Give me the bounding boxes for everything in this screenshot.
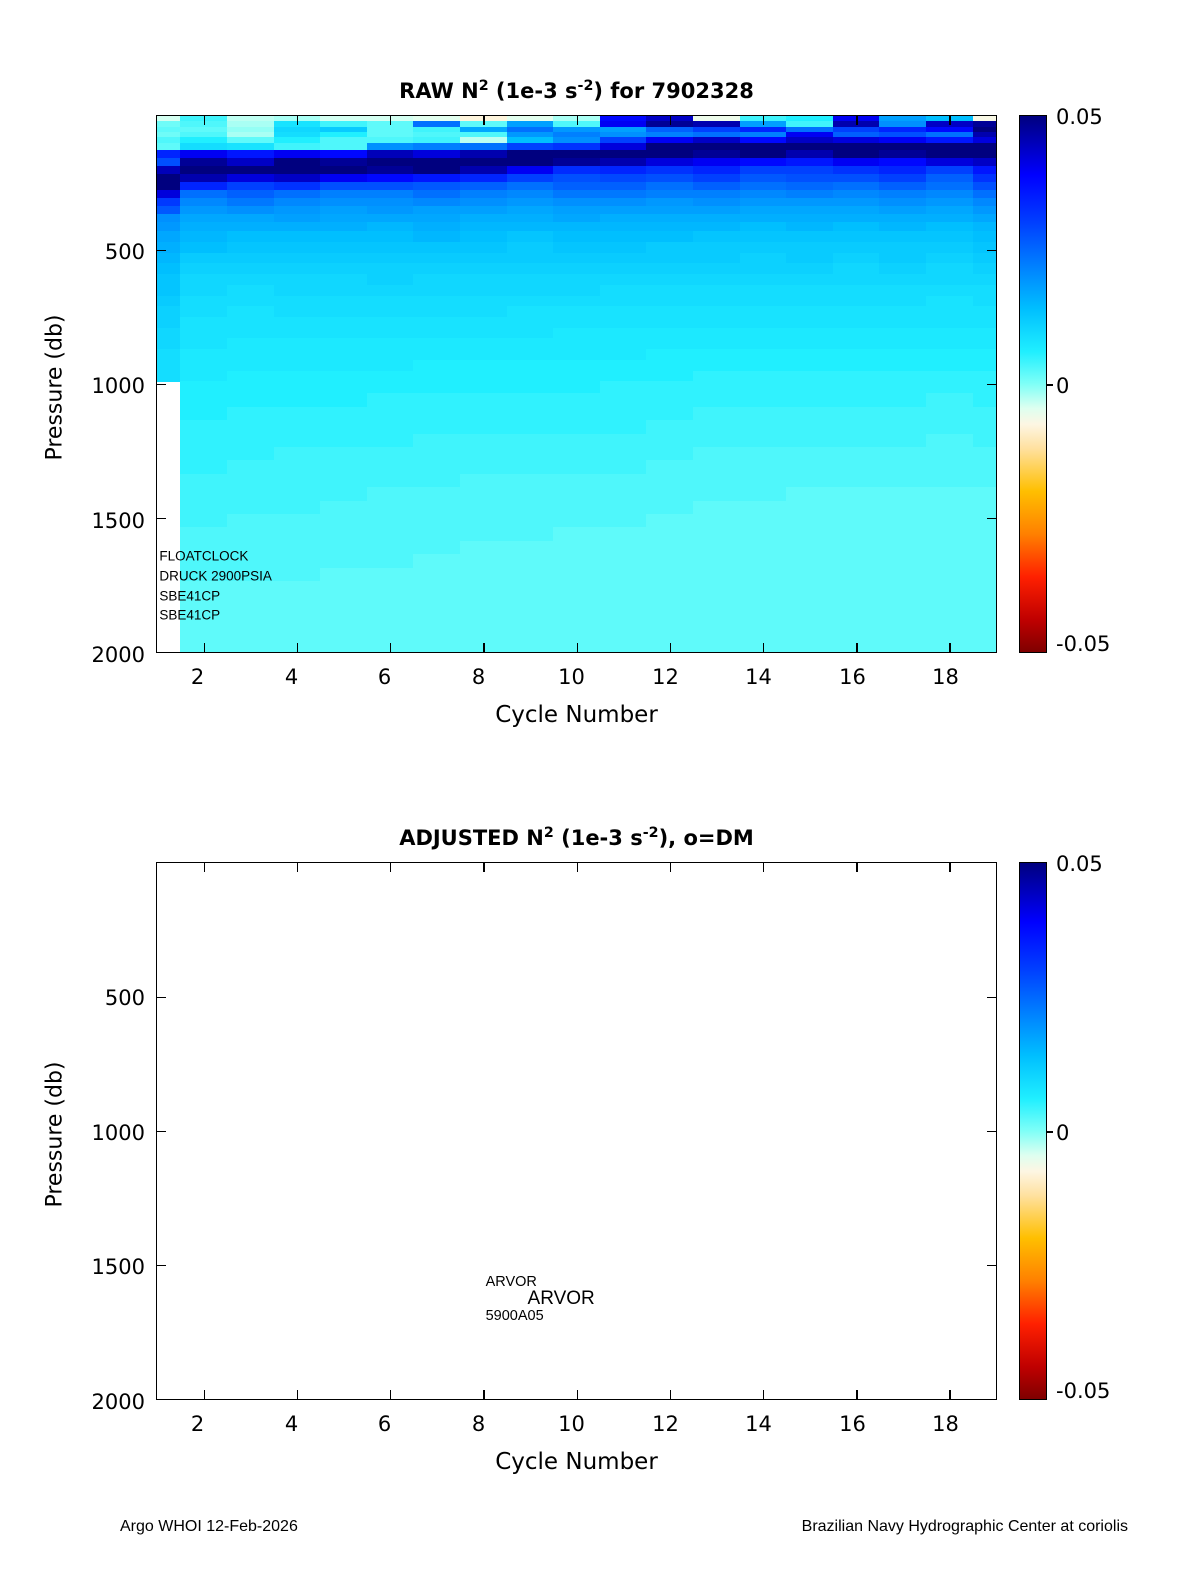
heatmap-cell (413, 420, 460, 434)
heatmap-cell (926, 360, 973, 371)
xtick-6 (390, 863, 391, 872)
heatmap-cell (553, 527, 600, 541)
heatmap-cell (180, 393, 227, 407)
heatmap-cell (693, 541, 740, 555)
heatmap-cell (879, 231, 926, 242)
heatmap-cell (926, 474, 973, 488)
panel-adjusted-title: ADJUSTED N2 (1e-3 s-2), o=DM (156, 825, 997, 850)
heatmap-cell (274, 242, 321, 253)
heatmap-cell (227, 381, 274, 394)
heatmap-cell (879, 554, 926, 568)
heatmap-cell (413, 393, 460, 407)
heatmap-cell (926, 568, 973, 582)
heatmap-cell (413, 621, 460, 635)
heatmap-cell (973, 360, 997, 371)
heatmap-cell (507, 393, 554, 407)
heatmap-cell (227, 393, 274, 407)
colorbar-raw-label-min: -0.05 (1056, 632, 1110, 656)
heatmap-cell (507, 296, 554, 307)
heatmap-cell (553, 487, 600, 501)
heatmap-cell (320, 338, 367, 349)
heatmap-cell (180, 554, 227, 568)
heatmap-cell (460, 317, 507, 328)
heatmap-cell (646, 231, 693, 242)
heatmap-cell (507, 285, 554, 296)
heatmap-axes-adjusted[interactable]: ARVORARVOR5900A05 (156, 862, 997, 1400)
heatmap-cell (180, 328, 227, 339)
heatmap-cell (460, 253, 507, 264)
heatmap-cell (833, 371, 880, 382)
heatmap-cell (600, 360, 647, 371)
heatmap-cell (553, 242, 600, 253)
heatmap-cell (740, 360, 787, 371)
heatmap-cell (600, 635, 647, 653)
heatmap-cell (367, 360, 414, 371)
heatmap-cell (274, 231, 321, 242)
heatmap-cell (740, 621, 787, 635)
title-post: ) for 7902328 (593, 79, 753, 103)
heatmap-cell (180, 360, 227, 371)
heatmap-cell (786, 447, 833, 461)
heatmap-cell (320, 541, 367, 555)
xtick-label-10: 10 (549, 665, 594, 689)
heatmap-cell (180, 407, 227, 421)
heatmap-column (367, 116, 414, 652)
heatmap-cell (180, 296, 227, 307)
heatmap-cell (227, 514, 274, 528)
heatmap-cell (600, 338, 647, 349)
heatmap-cell (180, 447, 227, 461)
heatmap-cell (973, 501, 997, 515)
heatmap-cell (156, 360, 181, 371)
heatmap-cell (367, 594, 414, 608)
heatmap-cell (413, 474, 460, 488)
heatmap-cell (600, 434, 647, 448)
heatmap-cell (926, 338, 973, 349)
heatmap-cell (879, 263, 926, 274)
heatmap-cell (274, 568, 321, 582)
heatmap-cell (926, 501, 973, 515)
heatmap-cell (320, 407, 367, 421)
heatmap-cell (553, 253, 600, 264)
heatmap-cell (507, 568, 554, 582)
ytick-label-1000: 1000 (60, 374, 145, 398)
heatmap-cell (507, 474, 554, 488)
heatmap-cell (413, 317, 460, 328)
heatmap-cell (786, 274, 833, 285)
heatmap-cell (227, 594, 274, 608)
heatmap-cell (646, 242, 693, 253)
colorbar-adjusted-label-mid: 0 (1056, 1121, 1069, 1145)
colorbar-raw[interactable] (1019, 115, 1047, 653)
heatmap-cell (367, 608, 414, 622)
heatmap-cell (553, 434, 600, 448)
xtick-label-6: 6 (362, 665, 407, 689)
heatmap-cell (460, 474, 507, 488)
heatmap-cell (740, 594, 787, 608)
heatmap-cell (926, 263, 973, 274)
heatmap-cell (926, 621, 973, 635)
heatmap-cell (413, 581, 460, 595)
ytick-500 (157, 250, 166, 251)
heatmap-cell (180, 231, 227, 242)
heatmap-cell (740, 527, 787, 541)
heatmap-cell (367, 541, 414, 555)
heatmap-cell (507, 242, 554, 253)
heatmap-cell (926, 296, 973, 307)
heatmap-cell (740, 285, 787, 296)
heatmap-cell (320, 594, 367, 608)
heatmap-cell (367, 317, 414, 328)
heatmap-cell (460, 608, 507, 622)
xtick-4 (297, 116, 298, 125)
heatmap-cell (274, 447, 321, 461)
heatmap-cell (646, 306, 693, 317)
heatmap-cell (413, 328, 460, 339)
heatmap-cell (367, 460, 414, 474)
heatmap-cell (227, 253, 274, 264)
heatmap-cell (460, 285, 507, 296)
heatmap-cell (879, 621, 926, 635)
heatmap-cell (180, 285, 227, 296)
heatmap-cell (274, 253, 321, 264)
heatmap-cell (973, 263, 997, 274)
heatmap-cell (833, 253, 880, 264)
heatmap-cell (646, 568, 693, 582)
heatmap-cell (786, 608, 833, 622)
heatmap-cell (740, 381, 787, 394)
heatmap-cell (600, 487, 647, 501)
heatmap-cell (553, 554, 600, 568)
heatmap-cell (180, 594, 227, 608)
heatmap-cell (156, 328, 181, 339)
heatmap-cell (740, 420, 787, 434)
heatmap-cell (507, 434, 554, 448)
ytick-1500 (987, 1265, 996, 1266)
heatmap-column (227, 116, 274, 652)
heatmap-cell (693, 306, 740, 317)
heatmap-cell (600, 381, 647, 394)
heatmap-cell (786, 581, 833, 595)
heatmap-cell (413, 594, 460, 608)
heatmap-cell (274, 621, 321, 635)
heatmap-cell (460, 487, 507, 501)
heatmap-cell (926, 306, 973, 317)
heatmap-cell (507, 253, 554, 264)
heatmap-cell (926, 274, 973, 285)
heatmap-cell (600, 474, 647, 488)
heatmap-cell (926, 554, 973, 568)
heatmap-cell (320, 434, 367, 448)
heatmap-cell (693, 514, 740, 528)
heatmap-cell (879, 407, 926, 421)
heatmap-cell (786, 594, 833, 608)
heatmap-cell (693, 253, 740, 264)
heatmap-column (833, 116, 880, 652)
heatmap-cell (227, 501, 274, 515)
heatmap-cell (973, 581, 997, 595)
xtick-18 (949, 116, 950, 125)
heatmap-cell (367, 514, 414, 528)
heatmap-cell (274, 487, 321, 501)
heatmap-cell (600, 514, 647, 528)
xtick-8 (483, 1390, 484, 1399)
heatmap-cell (879, 338, 926, 349)
heatmap-cell (227, 434, 274, 448)
heatmap-cell (274, 407, 321, 421)
heatmap-column (740, 116, 787, 652)
heatmap-cell (926, 381, 973, 394)
heatmap-cell (180, 349, 227, 360)
heatmap-cell (926, 608, 973, 622)
heatmap-cell (553, 581, 600, 595)
heatmap-cell (879, 541, 926, 555)
heatmap-cell (833, 231, 880, 242)
heatmap-cell (507, 514, 554, 528)
heatmap-cell (926, 594, 973, 608)
heatmap-cell (274, 328, 321, 339)
heatmap-cell (646, 608, 693, 622)
heatmap-cell (274, 581, 321, 595)
heatmap-cell (600, 349, 647, 360)
heatmap-cell (274, 594, 321, 608)
heatmap-cell (367, 263, 414, 274)
heatmap-cell (693, 328, 740, 339)
heatmap-cell (180, 434, 227, 448)
heatmap-cell (693, 420, 740, 434)
heatmap-cell (973, 460, 997, 474)
heatmap-cell (600, 541, 647, 555)
title-pre: ADJUSTED N (399, 826, 544, 850)
heatmap-cell (367, 621, 414, 635)
heatmap-cell (600, 527, 647, 541)
heatmap-cell (227, 328, 274, 339)
heatmap-cell (460, 514, 507, 528)
heatmap-cell (973, 393, 997, 407)
heatmap-cell (786, 393, 833, 407)
xtick-label-18: 18 (923, 1412, 968, 1436)
heatmap-cell (833, 474, 880, 488)
ytick-label-1500: 1500 (60, 1255, 145, 1279)
heatmap-cell (973, 621, 997, 635)
heatmap-cell (413, 460, 460, 474)
heatmap-cell (600, 285, 647, 296)
heatmap-cell (274, 541, 321, 555)
heatmap-cell (156, 253, 181, 264)
colorbar-adjusted[interactable] (1019, 862, 1047, 1400)
heatmap-cell (413, 338, 460, 349)
heatmap-cell (367, 338, 414, 349)
heatmap-cell (367, 407, 414, 421)
heatmap-cell (320, 328, 367, 339)
ytick-2000 (157, 1399, 166, 1400)
heatmap-cell (646, 501, 693, 515)
heatmap-cell (320, 568, 367, 582)
footer-left: Argo WHOI 12-Feb-2026 (120, 1518, 298, 1536)
heatmap-cell (693, 501, 740, 515)
ytick-1000 (987, 384, 996, 385)
heatmap-cell (926, 285, 973, 296)
xtick-label-8: 8 (456, 1412, 501, 1436)
heatmap-cell (740, 554, 787, 568)
heatmap-cell (227, 541, 274, 555)
heatmap-cell (646, 434, 693, 448)
heatmap-cell (367, 581, 414, 595)
heatmap-cell (786, 263, 833, 274)
heatmap-cell (367, 253, 414, 264)
xtick-16 (856, 643, 857, 652)
heatmap-cell (180, 581, 227, 595)
heatmap-cell (646, 285, 693, 296)
heatmap-cell (274, 381, 321, 394)
heatmap-cell (507, 621, 554, 635)
heatmap-cell (740, 349, 787, 360)
colorbar-zero-tick (1046, 1131, 1053, 1133)
heatmap-cell (274, 317, 321, 328)
xtick-18 (949, 1390, 950, 1399)
heatmap-cell (646, 274, 693, 285)
heatmap-cell (879, 349, 926, 360)
heatmap-cell (553, 541, 600, 555)
ytick-label-2000: 2000 (60, 643, 145, 667)
heatmap-cell (413, 253, 460, 264)
heatmap-cell (833, 514, 880, 528)
heatmap-cell (367, 296, 414, 307)
heatmap-cell (786, 371, 833, 382)
heatmap-cell (786, 501, 833, 515)
heatmap-cell (507, 263, 554, 274)
heatmap-cell (600, 317, 647, 328)
heatmap-cell (786, 514, 833, 528)
heatmap-cell (227, 621, 274, 635)
xtick-4 (297, 643, 298, 652)
heatmap-cell (320, 621, 367, 635)
heatmap-cell (740, 296, 787, 307)
xtick-14 (763, 1390, 764, 1399)
heatmap-cell (833, 581, 880, 595)
heatmap-cell (227, 371, 274, 382)
heatmap-cell (926, 328, 973, 339)
heatmap-cell (320, 306, 367, 317)
xtick-label-2: 2 (175, 665, 220, 689)
heatmap-cell (973, 349, 997, 360)
heatmap-cell (227, 568, 274, 582)
xtick-label-10: 10 (549, 1412, 594, 1436)
heatmap-cell (320, 420, 367, 434)
heatmap-cell (740, 242, 787, 253)
heatmap-cell (973, 541, 997, 555)
heatmap-cell (507, 328, 554, 339)
heatmap-cell (460, 349, 507, 360)
heatmap-cell (460, 231, 507, 242)
heatmap-cell (413, 434, 460, 448)
heatmap-axes-raw[interactable]: FLOATCLOCKDRUCK 2900PSIASBE41CPSBE41CP (156, 115, 997, 653)
heatmap-cell (646, 527, 693, 541)
heatmap-cell (507, 581, 554, 595)
heatmap-cell (274, 474, 321, 488)
heatmap-cell (973, 371, 997, 382)
ytick-1000 (157, 384, 166, 385)
panel-adjusted-ylabel: Pressure (db) (43, 1015, 68, 1255)
heatmap-cell (646, 381, 693, 394)
heatmap-cell (274, 371, 321, 382)
heatmap-cell (740, 581, 787, 595)
heatmap-cell (600, 274, 647, 285)
heatmap-cell (646, 621, 693, 635)
heatmap-cell (274, 434, 321, 448)
heatmap-cell (507, 306, 554, 317)
heatmap-cell (507, 407, 554, 421)
heatmap-cell (833, 360, 880, 371)
heatmap-column (553, 116, 600, 652)
heatmap-cell (879, 371, 926, 382)
heatmap-cell (180, 568, 227, 582)
title-sup-2: -2 (643, 825, 659, 841)
heatmap-cell (460, 371, 507, 382)
heatmap-cell (180, 608, 227, 622)
heatmap-cell (274, 527, 321, 541)
heatmap-cell (740, 474, 787, 488)
heatmap-cell (879, 381, 926, 394)
heatmap-cell (693, 447, 740, 461)
heatmap-cell (274, 360, 321, 371)
heatmap-cell (507, 541, 554, 555)
heatmap-cell (507, 554, 554, 568)
heatmap-cell (156, 285, 181, 296)
heatmap-cell (553, 263, 600, 274)
heatmap-cell (367, 527, 414, 541)
heatmap-cell (973, 306, 997, 317)
heatmap-cell (156, 371, 181, 382)
heatmap-cell (833, 242, 880, 253)
heatmap-cell (693, 349, 740, 360)
heatmap-cell (926, 407, 973, 421)
ytick-500 (987, 997, 996, 998)
heatmap-cell (926, 447, 973, 461)
heatmap-cell (156, 242, 181, 253)
heatmap-cell (227, 420, 274, 434)
xtick-label-8: 8 (456, 665, 501, 689)
heatmap-cell (786, 554, 833, 568)
heatmap-cell (926, 514, 973, 528)
ytick-1000 (987, 1131, 996, 1132)
heatmap-cell (740, 328, 787, 339)
heatmap-cell (879, 527, 926, 541)
heatmap-cell (507, 317, 554, 328)
heatmap-cell (973, 568, 997, 582)
heatmap-cell (227, 635, 274, 653)
heatmap-cell (320, 474, 367, 488)
heatmap-cell (833, 349, 880, 360)
heatmap-cell (833, 527, 880, 541)
heatmap-cell (320, 253, 367, 264)
heatmap-cell (926, 242, 973, 253)
heatmap-cell (180, 242, 227, 253)
heatmap-cell (227, 527, 274, 541)
heatmap-cell (320, 371, 367, 382)
xtick-16 (856, 116, 857, 125)
heatmap-column (180, 116, 227, 652)
heatmap-cell (367, 420, 414, 434)
heatmap-cell (600, 242, 647, 253)
heatmap-cell (693, 568, 740, 582)
heatmap-cell (553, 360, 600, 371)
ytick-1000 (157, 1131, 166, 1132)
heatmap-cell (320, 360, 367, 371)
heatmap-cell (693, 231, 740, 242)
title-sup-1: 2 (479, 78, 489, 94)
xtick-label-12: 12 (643, 665, 688, 689)
